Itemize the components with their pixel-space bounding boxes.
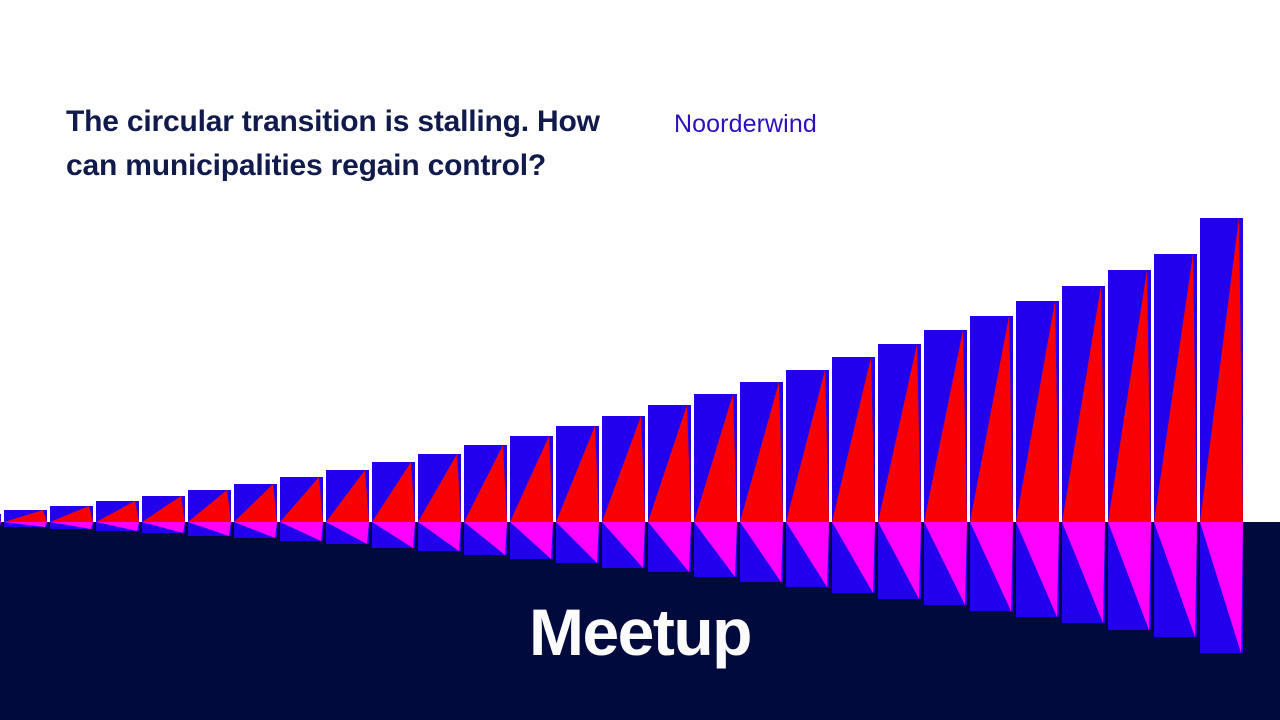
footer-title: Meetup bbox=[0, 594, 1280, 670]
brand-label: Noorderwind bbox=[674, 109, 817, 139]
slide-canvas: The circular transition is stalling. How… bbox=[0, 0, 1280, 720]
page-title: The circular transition is stalling. How… bbox=[66, 100, 626, 188]
